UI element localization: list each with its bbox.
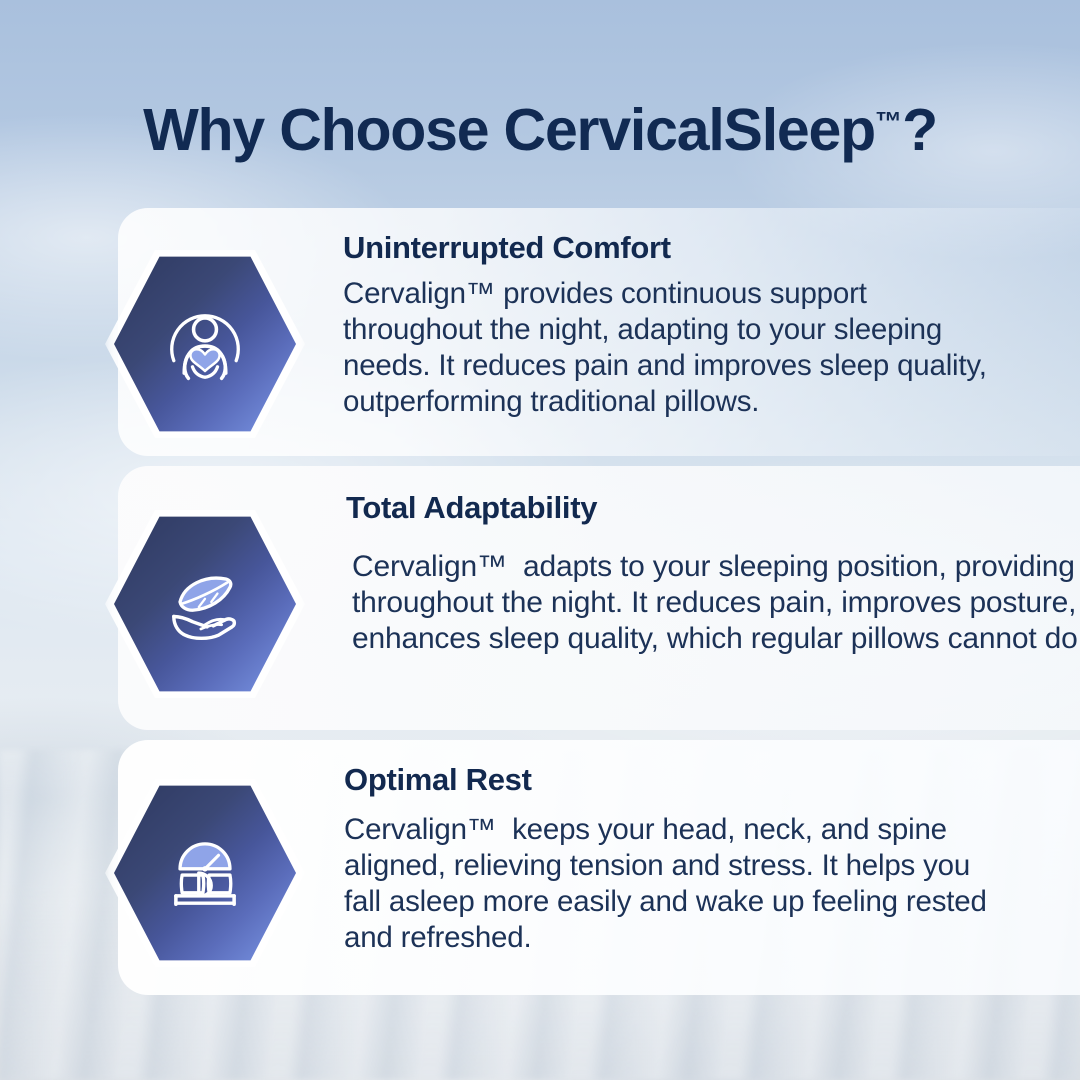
icon-badge-rest [105, 773, 305, 973]
feature-card-optimal-rest[interactable]: Optimal Rest Cervalign™ keeps your head,… [118, 740, 1080, 995]
card-body: Cervalign™ keeps your head, neck, and sp… [344, 812, 1080, 956]
person-holding-heart-icon [153, 292, 257, 396]
card-body: Cervalign™ adapts to your sleeping posit… [346, 549, 1080, 657]
card-title: Uninterrupted Comfort [343, 230, 1080, 266]
card-text-block: Total Adaptability Cervalign™ adapts to … [346, 490, 1080, 657]
icon-badge-comfort [105, 244, 305, 444]
feature-card-total-adaptability[interactable]: Total Adaptability Cervalign™ adapts to … [118, 466, 1080, 730]
hand-holding-feather-icon [153, 552, 257, 656]
card-body: Cervalign™ provides continuous support t… [343, 276, 1080, 420]
card-text-block: Uninterrupted Comfort Cervalign™ provide… [343, 230, 1080, 420]
icon-badge-adaptability [105, 504, 305, 704]
sleep-quality-gauge-pillows-icon [153, 821, 257, 925]
feature-card-list: Uninterrupted Comfort Cervalign™ provide… [0, 0, 1080, 1080]
card-title: Optimal Rest [344, 762, 1080, 798]
feature-card-uninterrupted-comfort[interactable]: Uninterrupted Comfort Cervalign™ provide… [118, 208, 1080, 456]
card-text-block: Optimal Rest Cervalign™ keeps your head,… [344, 762, 1080, 956]
card-title: Total Adaptability [346, 490, 1080, 526]
